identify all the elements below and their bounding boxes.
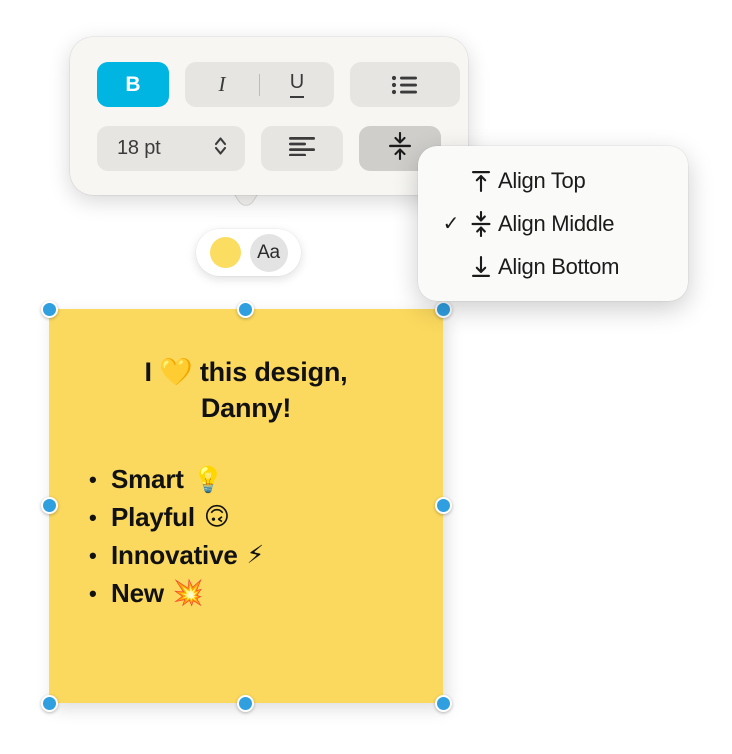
list-item-label: New <box>111 575 164 613</box>
yellow-heart-emoji: 💛 <box>159 357 192 387</box>
light-bulb-emoji: 💡 <box>193 462 224 499</box>
bold-button[interactable]: B <box>97 62 169 107</box>
color-swatch[interactable] <box>210 237 241 268</box>
align-top-icon <box>464 169 498 193</box>
chevron-up-down-icon[interactable] <box>213 134 228 163</box>
handle-top-center[interactable] <box>237 301 254 318</box>
canvas: I 💛 this design, Danny! • Smart 💡 • Play… <box>0 0 732 754</box>
align-middle-icon <box>387 132 413 165</box>
style-pill: Aa <box>196 229 301 276</box>
menu-item-align-top[interactable]: Align Top <box>418 159 688 202</box>
bullet-glyph: • <box>89 583 111 605</box>
note-title-line2: Danny! <box>201 393 291 423</box>
bold-button-label: B <box>125 73 140 97</box>
handle-bottom-right[interactable] <box>435 695 452 712</box>
toolbar-row-formatting: B I U <box>97 62 460 107</box>
font-size-stepper[interactable]: 18 pt <box>97 126 245 171</box>
italic-button[interactable]: I <box>185 62 259 107</box>
handle-top-left[interactable] <box>41 301 58 318</box>
bullet-glyph: • <box>89 469 111 491</box>
note-title-line1-before: I <box>145 357 160 387</box>
font-size-value: 18 pt <box>117 137 160 160</box>
handle-middle-left[interactable] <box>41 497 58 514</box>
align-middle-icon <box>464 211 498 237</box>
menu-item-label: Align Top <box>498 168 585 194</box>
high-voltage-emoji: ⚡ <box>247 537 264 574</box>
list-item: • Smart 💡 <box>89 461 417 499</box>
text-format-toolbar: B I U <box>70 37 468 195</box>
sticky-note[interactable]: I 💛 this design, Danny! • Smart 💡 • Play… <box>49 309 443 703</box>
toolbar-row-layout: 18 pt <box>97 126 441 171</box>
list-item: • Innovative ⚡ <box>89 537 417 575</box>
underline-button[interactable]: U <box>260 62 334 107</box>
handle-bottom-left[interactable] <box>41 695 58 712</box>
menu-item-label: Align Bottom <box>498 254 619 280</box>
bullet-list-button[interactable] <box>350 62 460 107</box>
note-bullet-list: • Smart 💡 • Playful 🙃 • Innovative ⚡ • N… <box>75 461 417 613</box>
menu-item-align-bottom[interactable]: Align Bottom <box>418 245 688 288</box>
menu-item-align-middle[interactable]: ✓ Align Middle <box>418 202 688 245</box>
align-left-icon <box>288 136 316 161</box>
text-style-button-label: Aa <box>257 242 280 264</box>
note-title: I 💛 this design, Danny! <box>75 355 417 427</box>
bullet-glyph: • <box>89 545 111 567</box>
check-icon: ✓ <box>438 211 464 236</box>
align-bottom-icon <box>464 255 498 279</box>
list-item-label: Smart <box>111 461 184 499</box>
note-title-line1-after: this design, <box>193 357 348 387</box>
italic-button-label: I <box>219 72 226 97</box>
list-item: • New 💥 <box>89 575 417 613</box>
underline-button-label: U <box>290 71 304 98</box>
handle-bottom-center[interactable] <box>237 695 254 712</box>
text-style-button[interactable]: Aa <box>250 234 288 272</box>
upside-down-face-emoji: 🙃 <box>204 499 230 536</box>
bullet-glyph: • <box>89 507 111 529</box>
collision-emoji: 💥 <box>173 575 204 612</box>
handle-top-right[interactable] <box>435 301 452 318</box>
handle-middle-right[interactable] <box>435 497 452 514</box>
text-align-button[interactable] <box>261 126 343 171</box>
italic-underline-group: I U <box>185 62 334 107</box>
sticky-note-content[interactable]: I 💛 this design, Danny! • Smart 💡 • Play… <box>49 309 443 703</box>
menu-item-label: Align Middle <box>498 211 614 237</box>
list-item: • Playful 🙃 <box>89 499 417 537</box>
bullet-list-icon <box>350 62 460 107</box>
vertical-align-menu: Align Top ✓ Align Middle Align Bot <box>418 146 688 301</box>
list-item-label: Innovative <box>111 537 238 575</box>
list-item-label: Playful <box>111 499 195 537</box>
